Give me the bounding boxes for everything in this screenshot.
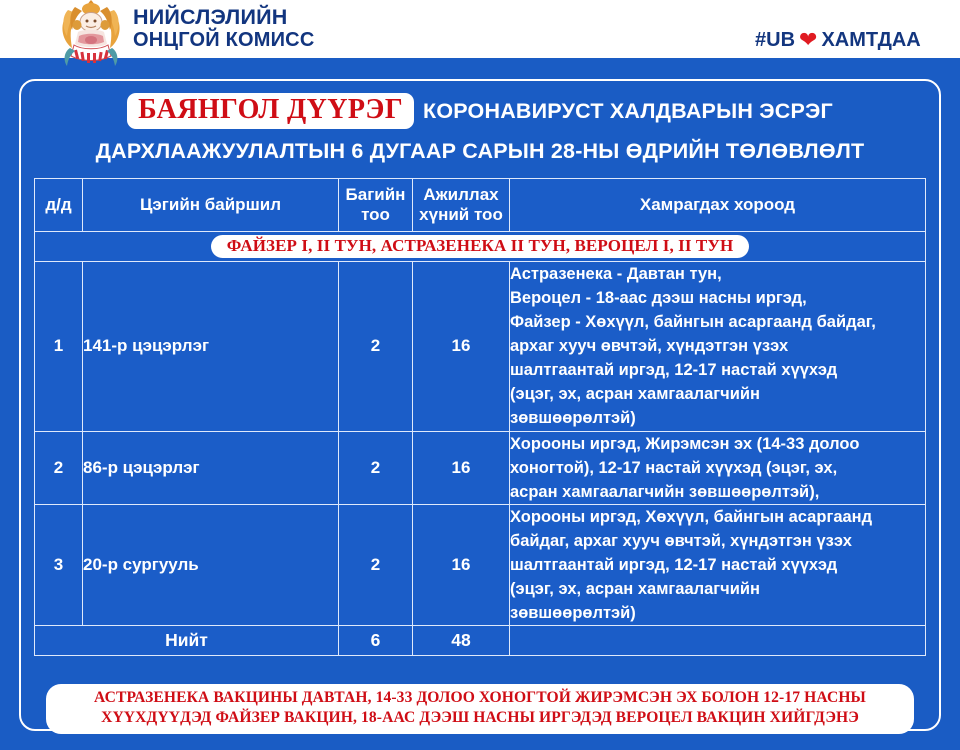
total-coverage: [510, 626, 926, 656]
title-line-1-rest: КОРОНАВИРУСТ ХАЛДВАРЫН ЭСРЭГ: [423, 99, 833, 124]
row-number: 1: [35, 262, 83, 432]
coverage-line: асран хамгаалагчийн зөвшөөрөлтэй),: [510, 480, 925, 504]
column-header-teams: Багийн тоо: [339, 179, 413, 232]
row-coverage: Хорооны иргэд, Жирэмсэн эх (14-33 долоо …: [510, 431, 926, 504]
footer-notice-line-1: АСТРАЗЕНЕКА ВАКЦИНЫ ДАВТАН, 14-33 ДОЛОО …: [56, 688, 904, 708]
hashtag-badge: #UB ❤ ХАМТДАА: [745, 27, 931, 55]
row-people: 16: [413, 504, 510, 625]
coverage-line: хоногтой), 12-17 настай хүүхэд (эцэг, эх…: [510, 456, 925, 480]
table-row: 2 86-р цэцэрлэг 2 16 Хорооны иргэд, Жирэ…: [35, 431, 926, 504]
mongolia-state-emblem-icon: [58, 0, 124, 70]
total-people: 48: [413, 626, 510, 656]
organization-line-2: ОНЦГОЙ КОМИСС: [133, 29, 314, 51]
coverage-line: зөвшөөрөлтэй): [510, 406, 925, 430]
row-location: 86-р цэцэрлэг: [83, 431, 339, 504]
section-banner-cell: ФАЙЗЕР I, II ТУН, АСТРАЗЕНЕКА II ТУН, ВЕ…: [35, 232, 926, 262]
row-coverage: Астразенека - Давтан тун, Вероцел - 18-а…: [510, 262, 926, 432]
table-header-row: д/д Цэгийн байршил Багийн тоо Ажиллах хү…: [35, 179, 926, 232]
row-people: 16: [413, 431, 510, 504]
hashtag-suffix: ХАМТДАА: [821, 29, 920, 52]
row-people: 16: [413, 262, 510, 432]
organization-name: НИЙСЛЭЛИЙН ОНЦГОЙ КОМИСС: [133, 7, 314, 51]
row-location: 20-р сургууль: [83, 504, 339, 625]
column-header-teams-line2: тоо: [361, 205, 390, 224]
coverage-line: Вероцел - 18-аас дээш насны иргэд,: [510, 286, 925, 310]
row-coverage: Хорооны иргэд, Хөхүүл, байнгын асаргаанд…: [510, 504, 926, 625]
column-header-teams-line1: Багийн: [346, 185, 406, 204]
title-line-1: БАЯНГОЛ ДҮҮРЭГ КОРОНАВИРУСТ ХАЛДВАРЫН ЭС…: [19, 92, 941, 130]
coverage-line: Файзер - Хөхүүл, байнгын асаргаанд байда…: [510, 310, 925, 334]
footer-notice: АСТРАЗЕНЕКА ВАКЦИНЫ ДАВТАН, 14-33 ДОЛОО …: [46, 684, 914, 734]
coverage-line: зөвшөөрөлтэй): [510, 601, 925, 625]
row-teams: 2: [339, 262, 413, 432]
poster-root: НИЙСЛЭЛИЙН ОНЦГОЙ КОМИСС #UB ❤ ХАМТДАА Б…: [0, 0, 960, 750]
page-title: БАЯНГОЛ ДҮҮРЭГ КОРОНАВИРУСТ ХАЛДВАРЫН ЭС…: [19, 92, 941, 164]
coverage-line: шалтгаантай иргэд, 12-17 настай хүүхэд: [510, 358, 925, 382]
row-teams: 2: [339, 431, 413, 504]
district-badge: БАЯНГОЛ ДҮҮРЭГ: [127, 93, 414, 129]
table-total-row: Нийт 6 48: [35, 626, 926, 656]
section-banner-pill: ФАЙЗЕР I, II ТУН, АСТРАЗЕНЕКА II ТУН, ВЕ…: [211, 235, 750, 258]
row-teams: 2: [339, 504, 413, 625]
coverage-line: Хорооны иргэд, Жирэмсэн эх (14-33 долоо: [510, 432, 925, 456]
column-header-location: Цэгийн байршил: [83, 179, 339, 232]
coverage-line: байдаг, архаг хууч өвчтэй, хүндэтгэн үзэ…: [510, 529, 925, 553]
column-header-no: д/д: [35, 179, 83, 232]
total-label: Нийт: [35, 626, 339, 656]
section-banner-row: ФАЙЗЕР I, II ТУН, АСТРАЗЕНЕКА II ТУН, ВЕ…: [35, 232, 926, 262]
title-line-2: ДАРХЛААЖУУЛАЛТЫН 6 ДУГААР САРЫН 28-НЫ ӨД…: [19, 139, 941, 164]
table-row: 3 20-р сургууль 2 16 Хорооны иргэд, Хөхү…: [35, 504, 926, 625]
coverage-line: шалтгаантай иргэд, 12-17 настай хүүхэд: [510, 553, 925, 577]
coverage-line: (эцэг, эх, асран хамгаалагчийн: [510, 577, 925, 601]
coverage-line: (эцэг, эх, асран хамгаалагчийн: [510, 382, 925, 406]
heart-icon: ❤: [799, 29, 817, 51]
organization-line-1: НИЙСЛЭЛИЙН: [133, 5, 288, 29]
footer-notice-line-2: ХҮҮХДҮҮДЭД ФАЙЗЕР ВАКЦИН, 18-ААС ДЭЭШ НА…: [56, 708, 904, 728]
total-teams: 6: [339, 626, 413, 656]
brand-block: НИЙСЛЭЛИЙН ОНЦГОЙ КОМИСС: [58, 0, 314, 70]
hashtag-prefix: #UB: [755, 29, 795, 52]
row-number: 2: [35, 431, 83, 504]
column-header-people-line2: хүний тоо: [419, 205, 503, 224]
table-row: 1 141-р цэцэрлэг 2 16 Астразенека - Давт…: [35, 262, 926, 432]
row-location: 141-р цэцэрлэг: [83, 262, 339, 432]
column-header-people-line1: Ажиллах: [423, 185, 498, 204]
row-number: 3: [35, 504, 83, 625]
column-header-coverage: Хамрагдах хороод: [510, 179, 926, 232]
vaccination-plan-table: д/д Цэгийн байршил Багийн тоо Ажиллах хү…: [34, 178, 926, 656]
column-header-people: Ажиллах хүний тоо: [413, 179, 510, 232]
coverage-line: Астразенека - Давтан тун,: [510, 262, 925, 286]
coverage-line: архаг хууч өвчтэй, хүндэтгэн үзэх: [510, 334, 925, 358]
coverage-line: Хорооны иргэд, Хөхүүл, байнгын асаргаанд: [510, 505, 925, 529]
